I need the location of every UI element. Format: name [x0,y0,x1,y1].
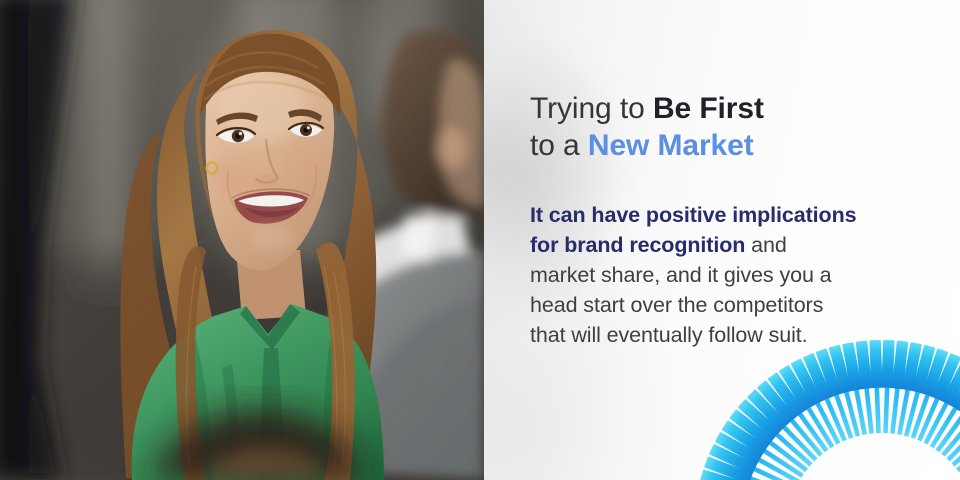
arc-spoke [894,342,922,436]
arc-spoke [803,353,850,443]
body-line-4: head start over the competitors [530,290,950,320]
arc-spoke [829,345,864,438]
arc-spoke [722,420,806,480]
arc-spoke [709,444,798,480]
arc-spoke [914,353,960,443]
arc-spoke [954,409,960,475]
arc-spoke [927,365,960,450]
body-emphasis-1: It can have positive implications [530,203,856,227]
body-line-1: It can have positive implications [530,200,950,230]
arc-spoke [779,365,837,450]
arc-spoke [842,342,870,436]
headline-prefix-2: to a [530,129,588,162]
promo-banner: Trying to Be First to a New Market It ca… [0,0,960,480]
body-paragraph: It can have positive implications for br… [530,200,950,350]
headline-line-2: to a New Market [530,127,950,164]
arc-spoke [791,358,844,446]
arc-spoke [729,409,810,475]
arc-spoke [880,340,895,433]
arc-spoke [869,340,884,433]
arc-spoke [704,456,795,480]
body-line-2: for brand recognition and [530,230,950,260]
arc-spoke [949,399,960,469]
body-emphasis-2: for brand recognition [530,233,745,257]
arc-spoke [933,372,960,454]
headline-emphasis: Be First [653,92,764,125]
arc-spoke [715,432,802,480]
arc-spoke [700,469,792,480]
arc-spoke [901,345,936,438]
arc-spoke [738,399,815,469]
arc-spoke [856,341,878,435]
headline-accent: New Market [588,129,754,162]
arc-spoke [816,348,857,440]
arc-spoke [757,380,826,459]
headline-line-1: Trying to Be First [530,90,950,127]
arc-spoke [747,389,820,464]
arc-spoke [768,372,832,454]
body-line-5: that will eventually follow suit. [530,320,950,350]
page-title: Trying to Be First to a New Market [530,90,950,164]
arc-spoke [887,341,909,435]
content-panel: Trying to Be First to a New Market It ca… [484,0,960,480]
arc-spoke [939,380,960,459]
hero-photo [0,0,484,480]
body-line-3: market share, and it gives you a [530,260,950,290]
arc-spoke [921,358,960,446]
arc-spoke [944,389,960,464]
arc-spoke [907,348,948,440]
headline-prefix: Trying to [530,92,653,125]
body-line-2-tail: and [745,233,786,257]
